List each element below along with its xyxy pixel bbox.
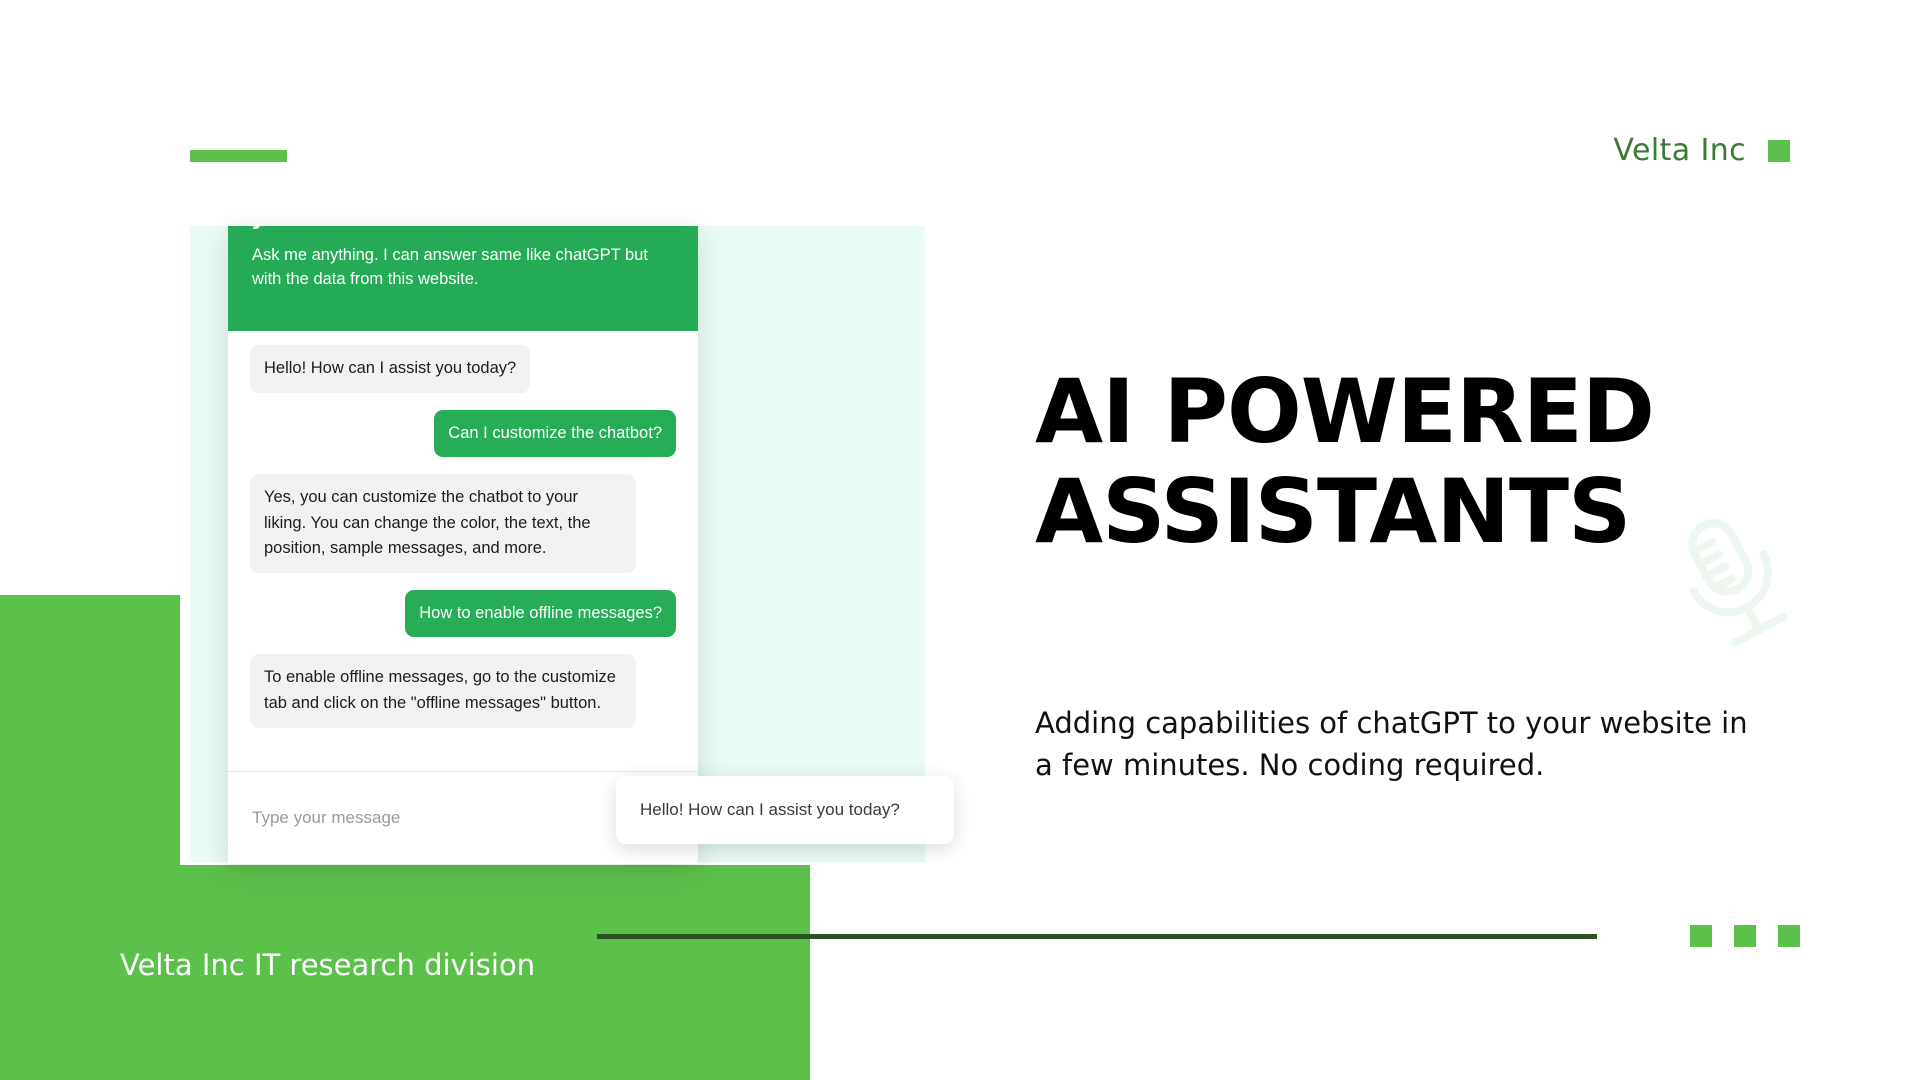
headline-line-2: ASSISTANTS [1035, 462, 1795, 562]
chat-message-input[interactable]: Type your message [252, 808, 400, 828]
dot-square-icon-3 [1778, 925, 1800, 947]
chat-message-user: Can I customize the chatbot? [434, 410, 676, 458]
horizontal-divider-line [597, 934, 1597, 939]
headline-line-1: AI POWERED [1035, 362, 1795, 462]
page-title: AI POWERED ASSISTANTS [1035, 362, 1795, 563]
subtitle-text: Adding capabilities of chatGPT to your w… [1035, 702, 1765, 787]
chat-header-subtitle: Ask me anything. I can answer same like … [252, 244, 652, 292]
chat-message-bot: To enable offline messages, go to the cu… [250, 654, 636, 727]
dot-square-icon-2 [1734, 925, 1756, 947]
chat-widget: y Ask me anything. I can answer same lik… [228, 226, 698, 864]
decorative-dots-group [1690, 925, 1800, 947]
chat-header-title: y [252, 226, 266, 231]
dot-square-icon-1 [1690, 925, 1712, 947]
top-accent-bar [190, 150, 287, 162]
slide-canvas: Velta Inc y Ask me anything. I can answe… [0, 0, 1920, 1080]
chat-message-list: Hello! How can I assist you today? Can I… [228, 331, 698, 771]
brand-lockup: Velta Inc [1613, 133, 1790, 168]
chat-popup-bubble[interactable]: Hello! How can I assist you today? [616, 776, 954, 844]
footer-caption: Velta Inc IT research division [120, 948, 535, 982]
chat-message-user: How to enable offline messages? [405, 590, 676, 638]
chat-message-bot: Yes, you can customize the chatbot to yo… [250, 474, 636, 573]
chat-widget-header: y Ask me anything. I can answer same lik… [228, 226, 698, 331]
chat-message-bot: Hello! How can I assist you today? [250, 345, 530, 393]
square-logo-icon [1768, 140, 1790, 162]
brand-name: Velta Inc [1613, 133, 1746, 168]
